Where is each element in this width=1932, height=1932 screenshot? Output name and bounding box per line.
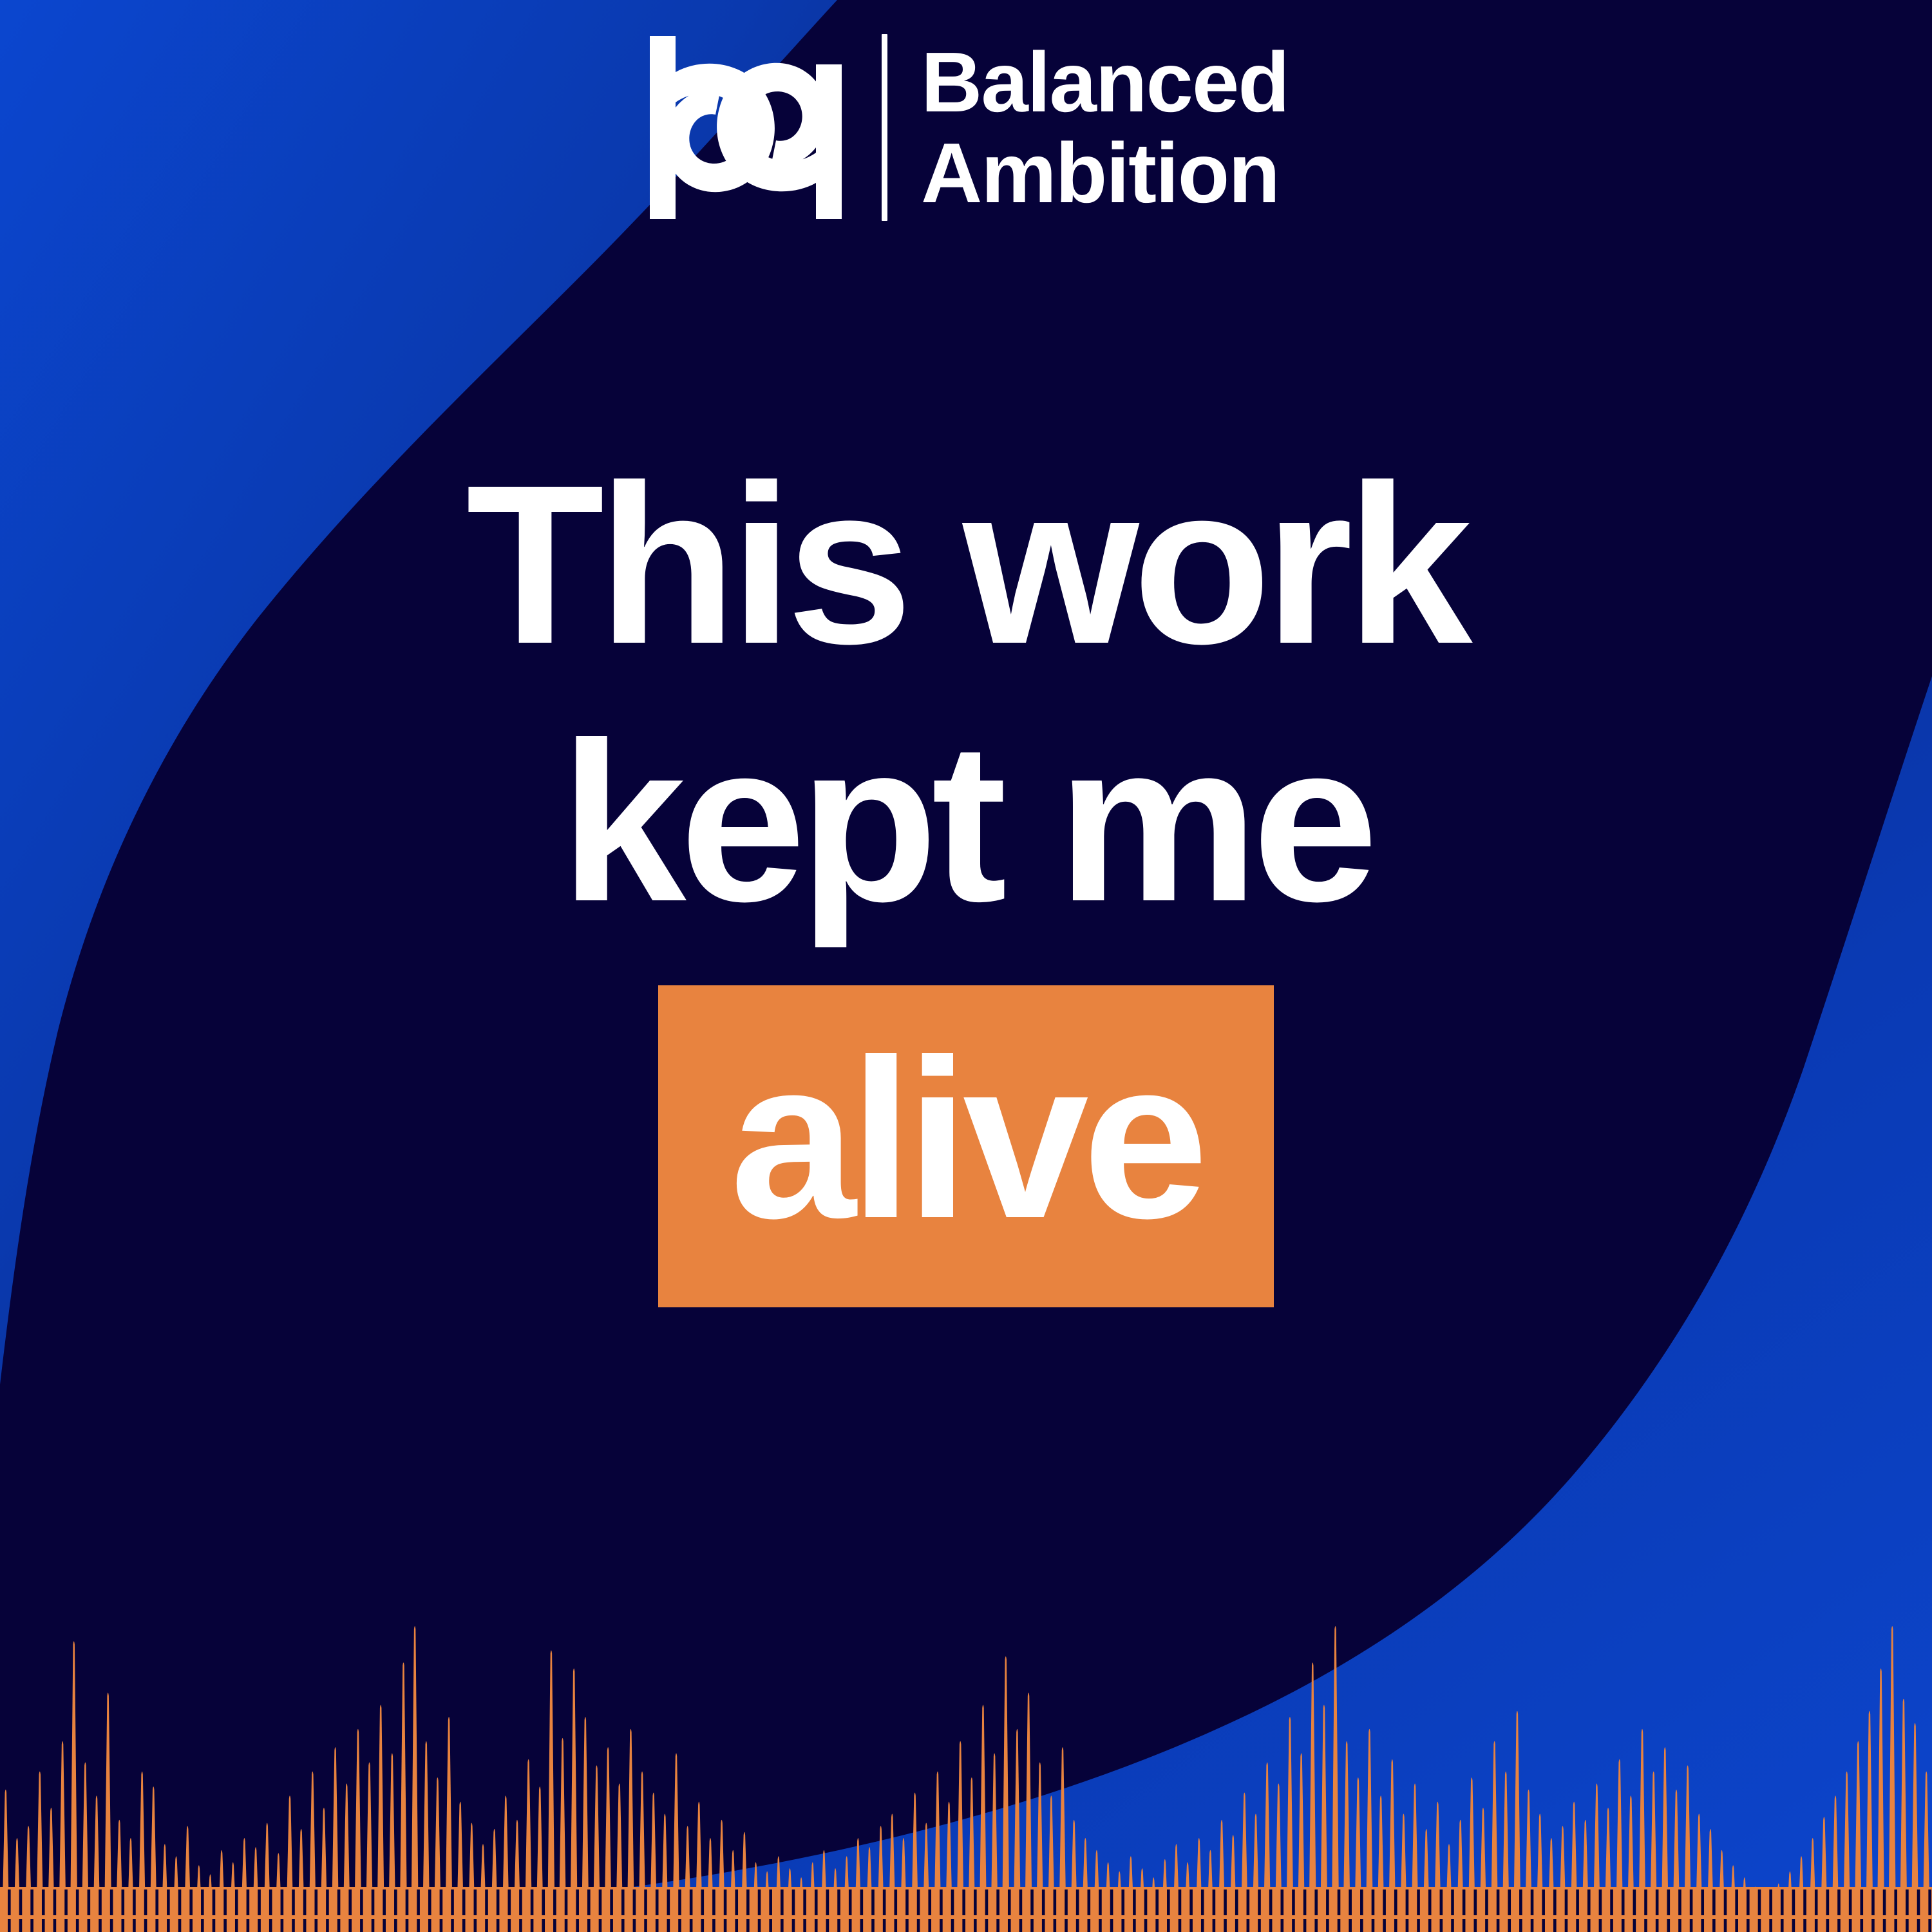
waveform-notch xyxy=(1440,1889,1443,1915)
waveform-notch xyxy=(133,1919,136,1932)
waveform-notch xyxy=(30,1889,33,1915)
waveform-notch xyxy=(88,1919,91,1932)
waveform-notch xyxy=(314,1919,317,1932)
waveform-notch xyxy=(1326,1889,1329,1915)
waveform-notch xyxy=(1576,1919,1579,1932)
waveform-notch xyxy=(599,1919,602,1932)
waveform-bar xyxy=(1707,1829,1714,1932)
waveform-notch xyxy=(1871,1919,1875,1932)
waveform-notch xyxy=(1054,1919,1057,1932)
waveform-notch xyxy=(394,1919,397,1932)
waveform-notch xyxy=(883,1919,886,1932)
waveform-bar xyxy=(741,1832,748,1932)
waveform-notch xyxy=(1394,1919,1397,1932)
waveform-notch xyxy=(803,1889,806,1915)
waveform-notch xyxy=(178,1919,182,1932)
waveform-notch xyxy=(507,1919,511,1932)
waveform-notch xyxy=(531,1919,534,1932)
waveform-notch xyxy=(1724,1889,1727,1915)
waveform-notch xyxy=(1235,1919,1238,1932)
waveform-notch xyxy=(110,1919,113,1932)
waveform-notch xyxy=(474,1889,477,1915)
waveform-notch xyxy=(1497,1919,1500,1932)
waveform-notch xyxy=(292,1919,295,1932)
waveform-notch xyxy=(1383,1919,1386,1932)
waveform-notch xyxy=(1292,1889,1295,1915)
waveform-notch xyxy=(1269,1889,1273,1915)
waveform-notch xyxy=(417,1919,420,1932)
waveform-bar xyxy=(1332,1626,1340,1932)
waveform-notch xyxy=(1690,1919,1693,1932)
waveform-notch xyxy=(1383,1889,1386,1915)
waveform-notch xyxy=(1338,1889,1341,1915)
waveform-notch xyxy=(871,1889,875,1915)
waveform-notch xyxy=(247,1889,250,1915)
waveform-notch xyxy=(269,1889,272,1915)
waveform-notch xyxy=(19,1919,23,1932)
waveform-notch xyxy=(1372,1919,1375,1932)
waveform-notch xyxy=(110,1889,113,1915)
waveform-notch xyxy=(99,1889,102,1915)
waveform-notch xyxy=(1894,1889,1897,1915)
waveform-notch xyxy=(1247,1919,1250,1932)
waveform-notch xyxy=(372,1919,375,1932)
waveform-notch xyxy=(940,1919,943,1932)
waveform-notch xyxy=(1360,1919,1363,1932)
waveform-notch xyxy=(133,1889,136,1915)
waveform-notch xyxy=(985,1919,989,1932)
waveform-notch xyxy=(724,1919,727,1932)
waveform-notch xyxy=(1280,1889,1283,1915)
waveform-notch xyxy=(985,1889,989,1915)
waveform-notch xyxy=(485,1919,488,1932)
waveform-notch xyxy=(1485,1889,1488,1915)
waveform-notch xyxy=(712,1889,715,1915)
waveform-notch xyxy=(1372,1889,1375,1915)
waveform-notch xyxy=(121,1919,124,1932)
waveform-notch xyxy=(1769,1889,1772,1915)
waveform-notch xyxy=(372,1889,375,1915)
waveform-notch xyxy=(1553,1919,1557,1932)
waveform-notch xyxy=(337,1919,341,1932)
waveform-notch xyxy=(1121,1889,1124,1915)
waveform-notch xyxy=(64,1889,68,1915)
waveform-notch xyxy=(1030,1919,1034,1932)
waveform-notch xyxy=(1690,1889,1693,1915)
waveform-notch xyxy=(735,1889,738,1915)
waveform-notch xyxy=(258,1889,261,1915)
waveform-notch xyxy=(281,1889,284,1915)
podcast-cover-canvas: Balanced Ambition This work kept me aliv… xyxy=(0,0,1932,1932)
waveform-notch xyxy=(656,1889,659,1915)
waveform-notch xyxy=(860,1889,864,1915)
waveform-notch xyxy=(1303,1919,1307,1932)
waveform-notch xyxy=(1599,1889,1602,1915)
waveform-notch xyxy=(1167,1919,1170,1932)
waveform-notch xyxy=(792,1889,795,1915)
waveform-notch xyxy=(167,1889,170,1915)
waveform-notch xyxy=(1201,1889,1204,1915)
waveform-notch xyxy=(1258,1919,1261,1932)
waveform-notch xyxy=(599,1889,602,1915)
waveform-bar xyxy=(1229,1835,1237,1932)
waveform-notch xyxy=(497,1919,500,1932)
waveform-notch xyxy=(621,1889,625,1915)
waveform-notch xyxy=(587,1919,591,1932)
headline-line-2: kept me xyxy=(0,708,1932,935)
waveform-notch xyxy=(462,1919,466,1932)
waveform-notch xyxy=(383,1919,386,1932)
waveform-notch xyxy=(1508,1919,1511,1932)
waveform-notch xyxy=(1133,1889,1136,1915)
waveform-bar xyxy=(684,1826,692,1932)
waveform-notch xyxy=(610,1889,613,1915)
waveform-notch xyxy=(213,1919,216,1932)
waveform-notch xyxy=(701,1889,704,1915)
waveform-notch xyxy=(428,1919,431,1932)
waveform-notch xyxy=(258,1919,261,1932)
waveform-notch xyxy=(178,1889,182,1915)
waveform-notch xyxy=(1724,1919,1727,1932)
waveform-notch xyxy=(474,1919,477,1932)
waveform-bar xyxy=(298,1829,305,1932)
waveform-notch xyxy=(1712,1919,1716,1932)
waveform-notch xyxy=(871,1919,875,1932)
waveform-notch xyxy=(1155,1919,1159,1932)
waveform-notch xyxy=(1179,1889,1182,1915)
waveform-notch xyxy=(1542,1919,1545,1932)
waveform-bar xyxy=(468,1823,476,1932)
waveform-notch xyxy=(1019,1889,1023,1915)
waveform-notch xyxy=(303,1919,307,1932)
waveform-notch xyxy=(758,1919,761,1932)
waveform-notch xyxy=(928,1889,931,1915)
waveform-bar xyxy=(877,1826,885,1932)
waveform-notch xyxy=(1781,1889,1784,1915)
waveform-notch xyxy=(42,1889,45,1915)
waveform-notch xyxy=(189,1919,193,1932)
waveform-notch xyxy=(1542,1889,1545,1915)
waveform-notch xyxy=(1792,1889,1795,1915)
audio-waveform-icon xyxy=(0,1597,1932,1932)
waveform-notch xyxy=(223,1919,227,1932)
waveform-notch xyxy=(519,1889,522,1915)
ba-monogram-icon xyxy=(643,33,848,222)
waveform-notch xyxy=(8,1919,11,1932)
waveform-notch xyxy=(576,1919,579,1932)
waveform-notch xyxy=(1326,1919,1329,1932)
waveform-notch xyxy=(1110,1889,1113,1915)
waveform-notch xyxy=(1894,1919,1897,1932)
brand-name: Balanced Ambition xyxy=(921,37,1289,218)
waveform-notch xyxy=(1451,1919,1454,1932)
waveform-notch xyxy=(1701,1919,1704,1932)
waveform-notch xyxy=(1747,1889,1750,1915)
waveform-notch xyxy=(337,1889,341,1915)
waveform-notch xyxy=(235,1919,238,1932)
waveform-notch xyxy=(1440,1919,1443,1932)
waveform-notch xyxy=(996,1919,999,1932)
waveform-notch xyxy=(1076,1889,1079,1915)
waveform-bar xyxy=(855,1838,862,1932)
waveform-notch xyxy=(1269,1919,1273,1932)
waveform-notch xyxy=(1656,1889,1659,1915)
waveform-notch xyxy=(951,1919,954,1932)
waveform-notch xyxy=(1179,1919,1182,1932)
waveform-bar xyxy=(1081,1838,1089,1932)
waveform-notch xyxy=(1815,1919,1818,1932)
waveform-notch xyxy=(1280,1919,1283,1932)
waveform-notch xyxy=(155,1919,158,1932)
waveform-notch xyxy=(1473,1919,1477,1932)
waveform-notch xyxy=(1587,1889,1591,1915)
waveform-notch xyxy=(1201,1919,1204,1932)
waveform-notch xyxy=(462,1889,466,1915)
waveform-notch xyxy=(1610,1889,1613,1915)
waveform-notch xyxy=(701,1919,704,1932)
waveform-bar xyxy=(14,1838,21,1932)
waveform-notch xyxy=(201,1919,204,1932)
waveform-bar xyxy=(411,1626,419,1932)
waveform-notch xyxy=(1463,1919,1466,1932)
waveform-notch xyxy=(1189,1919,1193,1932)
waveform-notch xyxy=(88,1889,91,1915)
waveform-bar xyxy=(706,1838,714,1932)
waveform-notch xyxy=(917,1919,920,1932)
waveform-notch xyxy=(406,1919,409,1932)
waveform-notch xyxy=(348,1889,352,1915)
waveform-notch xyxy=(781,1919,784,1932)
waveform-notch xyxy=(690,1889,693,1915)
waveform-bar xyxy=(922,1823,930,1932)
waveform-notch xyxy=(974,1889,977,1915)
waveform-notch xyxy=(1042,1889,1045,1915)
waveform-notch xyxy=(485,1889,488,1915)
waveform-notch xyxy=(42,1919,45,1932)
waveform-notch xyxy=(1144,1919,1148,1932)
waveform-notch xyxy=(1417,1889,1420,1915)
waveform-notch xyxy=(1792,1919,1795,1932)
waveform-bar xyxy=(263,1823,271,1932)
waveform-notch xyxy=(769,1919,772,1932)
waveform-notch xyxy=(553,1889,556,1915)
waveform-bar xyxy=(900,1838,907,1932)
waveform-notch xyxy=(1599,1919,1602,1932)
waveform-notch xyxy=(213,1889,216,1915)
waveform-notch xyxy=(269,1919,272,1932)
waveform-notch xyxy=(1451,1889,1454,1915)
waveform-notch xyxy=(1428,1889,1432,1915)
waveform-notch xyxy=(940,1889,943,1915)
waveform-notch xyxy=(1883,1889,1886,1915)
waveform-notch xyxy=(974,1919,977,1932)
waveform-notch xyxy=(8,1889,11,1915)
waveform-notch xyxy=(76,1919,79,1932)
waveform-notch xyxy=(724,1889,727,1915)
waveform-notch xyxy=(1712,1889,1716,1915)
waveform-notch xyxy=(1076,1919,1079,1932)
waveform-notch xyxy=(746,1889,750,1915)
waveform-notch xyxy=(894,1919,897,1932)
waveform-notch xyxy=(667,1889,670,1915)
waveform-notch xyxy=(1087,1919,1090,1932)
waveform-notch xyxy=(1917,1919,1920,1932)
waveform-notch xyxy=(1258,1889,1261,1915)
waveform-notch xyxy=(53,1889,57,1915)
waveform-notch xyxy=(1826,1919,1830,1932)
waveform-notch xyxy=(1099,1919,1102,1932)
waveform-notch xyxy=(383,1889,386,1915)
waveform-notch xyxy=(326,1889,329,1915)
waveform-notch xyxy=(1906,1889,1909,1915)
waveform-notch xyxy=(1883,1919,1886,1932)
waveform-notch xyxy=(531,1889,534,1915)
waveform-bar xyxy=(491,1829,498,1932)
waveform-notch xyxy=(746,1919,750,1932)
waveform-notch xyxy=(621,1919,625,1932)
brand-lockup: Balanced Ambition xyxy=(0,33,1932,222)
waveform-notch xyxy=(497,1889,500,1915)
waveform-notch xyxy=(1110,1919,1113,1932)
waveform-notch xyxy=(1213,1919,1216,1932)
waveform-notch xyxy=(1087,1889,1090,1915)
waveform-notch xyxy=(406,1889,409,1915)
headline-block: This work kept me alive xyxy=(0,451,1932,1307)
waveform-notch xyxy=(1065,1889,1068,1915)
waveform-notch xyxy=(633,1919,636,1932)
waveform-notch xyxy=(1849,1889,1852,1915)
waveform-notch xyxy=(1928,1919,1931,1932)
waveform-notch xyxy=(587,1889,591,1915)
waveform-notch xyxy=(1417,1919,1420,1932)
waveform-notch xyxy=(962,1889,965,1915)
waveform-notch xyxy=(860,1919,864,1932)
waveform-notch xyxy=(1019,1919,1023,1932)
waveform-notch xyxy=(610,1919,613,1932)
waveform-notch xyxy=(1303,1889,1307,1915)
waveform-notch xyxy=(1189,1889,1193,1915)
waveform-notch xyxy=(769,1889,772,1915)
waveform-notch xyxy=(1519,1919,1522,1932)
waveform-notch xyxy=(235,1889,238,1915)
waveform-notch xyxy=(1928,1889,1931,1915)
headline-line-1: This work xyxy=(0,451,1932,677)
waveform-notch xyxy=(849,1889,852,1915)
waveform-notch xyxy=(303,1889,307,1915)
waveform-notch xyxy=(1747,1919,1750,1932)
headline-highlight-wrap: alive xyxy=(0,985,1932,1307)
waveform-notch xyxy=(644,1919,647,1932)
waveform-notch xyxy=(815,1919,818,1932)
waveform-notch xyxy=(542,1889,545,1915)
waveform-notch xyxy=(1565,1919,1568,1932)
waveform-notch xyxy=(565,1919,568,1932)
waveform-notch xyxy=(281,1919,284,1932)
waveform-notch xyxy=(1508,1889,1511,1915)
waveform-notch xyxy=(394,1889,397,1915)
waveform-notch xyxy=(201,1889,204,1915)
waveform-notch xyxy=(735,1919,738,1932)
waveform-notch xyxy=(1610,1919,1613,1932)
waveform-notch xyxy=(1485,1919,1488,1932)
waveform-notch xyxy=(1769,1919,1772,1932)
waveform-notch xyxy=(451,1889,454,1915)
waveform-notch xyxy=(576,1889,579,1915)
waveform-bar xyxy=(1809,1838,1817,1932)
waveform-notch xyxy=(1531,1919,1534,1932)
waveform-notch xyxy=(99,1919,102,1932)
waveform-notch xyxy=(1735,1889,1738,1915)
waveform-notch xyxy=(53,1919,57,1932)
waveform-notch xyxy=(1917,1889,1920,1915)
waveform-notch xyxy=(1133,1919,1136,1932)
waveform-notch xyxy=(1121,1919,1124,1932)
waveform-bar xyxy=(1423,1829,1430,1932)
waveform-notch xyxy=(1247,1889,1250,1915)
waveform-notch xyxy=(633,1889,636,1915)
waveform-notch xyxy=(1553,1889,1557,1915)
waveform-notch xyxy=(1758,1919,1761,1932)
waveform-notch xyxy=(1849,1919,1852,1932)
brand-divider-icon xyxy=(882,34,887,221)
waveform-notch xyxy=(1803,1889,1806,1915)
waveform-notch xyxy=(894,1889,897,1915)
waveform-notch xyxy=(905,1889,909,1915)
brand-name-line1: Balanced xyxy=(921,37,1289,128)
waveform-bar xyxy=(1195,1838,1203,1932)
waveform-notch xyxy=(30,1919,33,1932)
waveform-notch xyxy=(1155,1889,1159,1915)
waveform-bar xyxy=(241,1838,249,1932)
waveform-notch xyxy=(1678,1889,1681,1915)
waveform-notch xyxy=(1735,1919,1738,1932)
waveform-notch xyxy=(1906,1919,1909,1932)
waveform-bar xyxy=(24,1826,32,1932)
waveform-notch xyxy=(1167,1889,1170,1915)
waveform-notch xyxy=(1314,1919,1318,1932)
waveform-notch xyxy=(19,1889,23,1915)
waveform-notch xyxy=(905,1919,909,1932)
waveform-notch xyxy=(1633,1889,1636,1915)
waveform-notch xyxy=(1803,1919,1806,1932)
waveform-notch xyxy=(656,1919,659,1932)
waveform-notch xyxy=(1860,1889,1863,1915)
waveform-notch xyxy=(417,1889,420,1915)
waveform-notch xyxy=(1065,1919,1068,1932)
waveform-notch xyxy=(1054,1889,1057,1915)
waveform-notch xyxy=(348,1919,352,1932)
waveform-notch xyxy=(1338,1919,1341,1932)
brand-name-line2: Ambition xyxy=(921,128,1289,218)
waveform-notch xyxy=(781,1889,784,1915)
waveform-notch xyxy=(155,1889,158,1915)
waveform-notch xyxy=(1815,1889,1818,1915)
waveform-notch xyxy=(519,1919,522,1932)
waveform-notch xyxy=(1360,1889,1363,1915)
waveform-notch xyxy=(1565,1889,1568,1915)
waveform-notch xyxy=(1837,1919,1841,1932)
waveform-notch xyxy=(996,1889,999,1915)
waveform-notch xyxy=(962,1919,965,1932)
waveform-notch xyxy=(667,1919,670,1932)
waveform-notch xyxy=(1406,1919,1409,1932)
waveform-notch xyxy=(1235,1889,1238,1915)
waveform-bar xyxy=(127,1838,135,1932)
waveform-notch xyxy=(1587,1919,1591,1932)
waveform-notch xyxy=(326,1919,329,1932)
waveform-bar xyxy=(1559,1826,1567,1932)
waveform-notch xyxy=(1008,1889,1011,1915)
